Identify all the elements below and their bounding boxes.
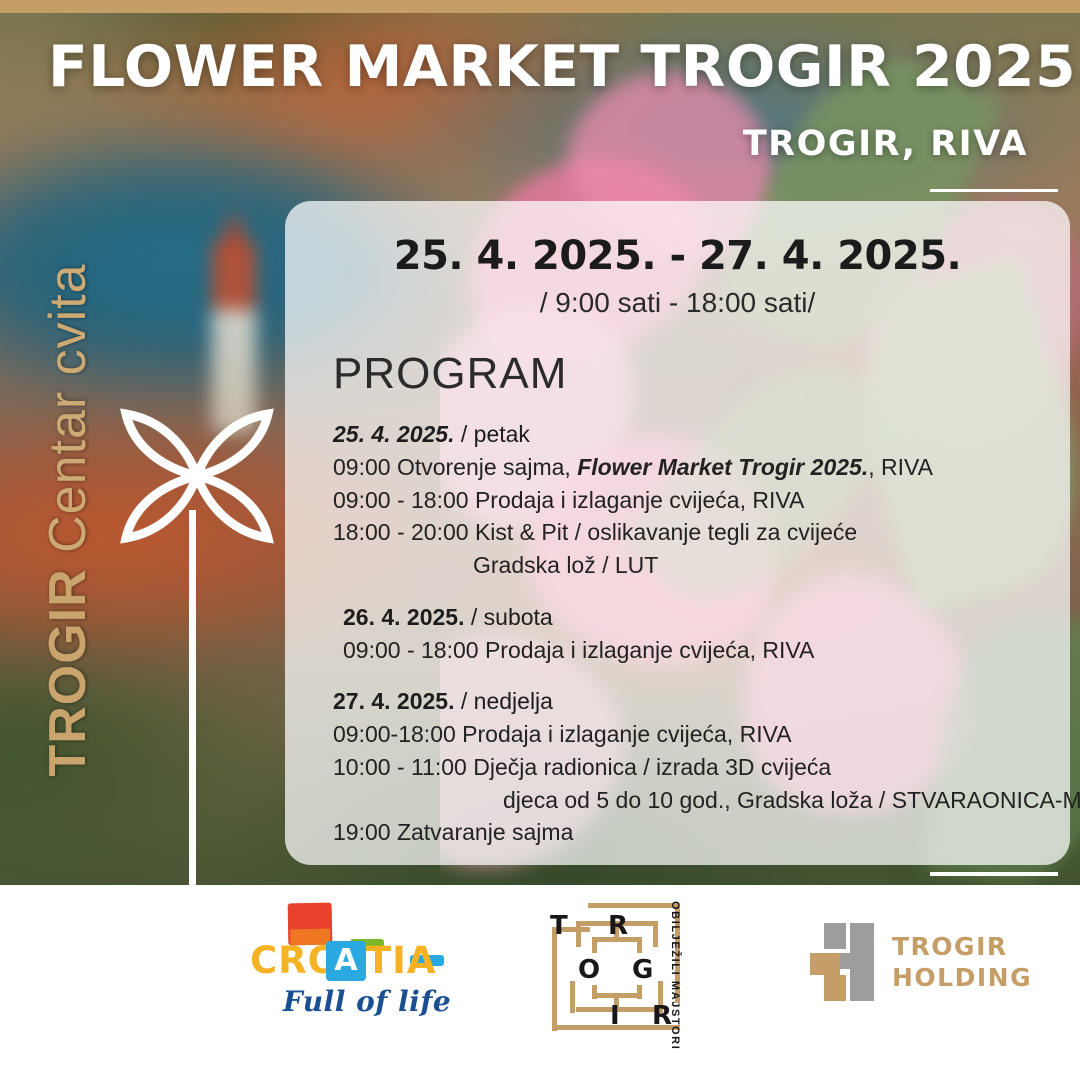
- program-event: 09:00 - 18:00 Prodaja i izlaganje cvijeć…: [333, 484, 1044, 517]
- program-event: 09:00 Otvorenje sajma, Flower Market Tro…: [333, 451, 1044, 484]
- program-day-block: 27. 4. 2025. / nedjelja 09:00-18:00 Prod…: [333, 688, 1044, 849]
- trogir-letter-t: T: [550, 911, 568, 941]
- program-heading: PROGRAM: [333, 349, 1044, 399]
- event-text-emphasis: Flower Market Trogir 2025.: [577, 454, 868, 480]
- program-event: 19:00 Zatvaranje sajma: [333, 816, 1044, 849]
- program-day-block: 26. 4. 2025. / subota 09:00 - 18:00 Prod…: [343, 604, 1044, 667]
- flower-logo-svg: [112, 398, 282, 548]
- holding-h-mark-icon: [810, 923, 876, 1001]
- logo-trogir-holding: TROGIR HOLDING: [810, 923, 1030, 1007]
- program-day-block: 25. 4. 2025. / petak 09:00 Otvorenje saj…: [333, 421, 1044, 582]
- logo-croatia-full-of-life: CROATIA A Full of life: [250, 903, 460, 1023]
- logo-trogir-city: T R O G I R OBILJEŽILI MAJSTORI: [540, 893, 710, 1038]
- event-text-post: , RIVA: [868, 454, 933, 480]
- top-accent-bar: [0, 0, 1080, 13]
- event-text-pre: 09:00 Otvorenje sajma,: [333, 454, 577, 480]
- program-day-name: petak: [474, 421, 530, 447]
- program-day-sep: /: [455, 688, 474, 714]
- event-date-range: 25. 4. 2025. - 27. 4. 2025.: [311, 233, 1044, 279]
- page-subtitle-location: TROGIR, RIVA: [743, 124, 1028, 164]
- flower-logo-mark: [112, 398, 282, 553]
- program-event-venue: Gradska lož / LUT: [333, 549, 1044, 582]
- program-event-venue: djeca od 5 do 10 god., Gradska loža / ST…: [333, 784, 1044, 817]
- holding-line-2: HOLDING: [892, 962, 1032, 993]
- footer-logo-bar: CROATIA A Full of life: [0, 885, 1080, 1080]
- program-day-header: 25. 4. 2025. / petak: [333, 421, 1044, 448]
- program-panel: 25. 4. 2025. - 27. 4. 2025. / 9:00 sati …: [285, 201, 1070, 865]
- trogir-letter-i: I: [610, 1001, 620, 1031]
- croatia-letter-a: A: [326, 943, 366, 978]
- vertical-brand-light: Centar cvita: [39, 263, 97, 568]
- trogir-letter-o: O: [578, 955, 600, 985]
- croatia-letter-a-box: A: [326, 941, 366, 981]
- program-day-name: subota: [484, 604, 553, 630]
- vertical-brand-bold: TROGIR: [39, 568, 97, 776]
- trogir-letter-r: R: [608, 911, 628, 941]
- program-day-sep: /: [455, 421, 474, 447]
- program-day-date: 25. 4. 2025.: [333, 421, 455, 447]
- holding-wordmark: TROGIR HOLDING: [892, 931, 1032, 994]
- program-event: 18:00 - 20:00 Kist & Pit / oslikavanje t…: [333, 516, 1044, 549]
- page-title: FLOWER MARKET TROGIR 2025.: [48, 34, 1080, 100]
- event-hours: / 9:00 sati - 18:00 sati/: [311, 287, 1044, 319]
- program-event: 09:00 - 18:00 Prodaja i izlaganje cvijeć…: [343, 634, 1044, 667]
- program-event: 10:00 - 11:00 Dječja radionica / izrada …: [333, 751, 1044, 784]
- program-day-date: 26. 4. 2025.: [343, 604, 465, 630]
- header-accent-rule: [930, 189, 1058, 192]
- program-day-header: 27. 4. 2025. / nedjelja: [333, 688, 1044, 715]
- trogir-vertical-tagline: OBILJEŽILI MAJSTORI: [669, 901, 681, 1033]
- program-event: 09:00-18:00 Prodaja i izlaganje cvijeća,…: [333, 718, 1044, 751]
- program-day-sep: /: [465, 604, 484, 630]
- vertical-brand-text: TROGIR Centar cvita: [38, 170, 98, 870]
- flower-stem-white: [189, 510, 196, 885]
- program-day-header: 26. 4. 2025. / subota: [343, 604, 1044, 631]
- poster-root: TROGIR Centar cvita 25. 4. 2025. - 27. 4…: [0, 0, 1080, 1080]
- footer-accent-rule: [930, 872, 1058, 876]
- program-day-date: 27. 4. 2025.: [333, 688, 455, 714]
- croatia-word-tia: TIA: [366, 939, 437, 982]
- croatia-tagline: Full of life: [272, 985, 462, 1018]
- program-day-name: nedjelja: [474, 688, 553, 714]
- holding-line-1: TROGIR: [892, 931, 1032, 962]
- trogir-letter-g: G: [632, 955, 653, 985]
